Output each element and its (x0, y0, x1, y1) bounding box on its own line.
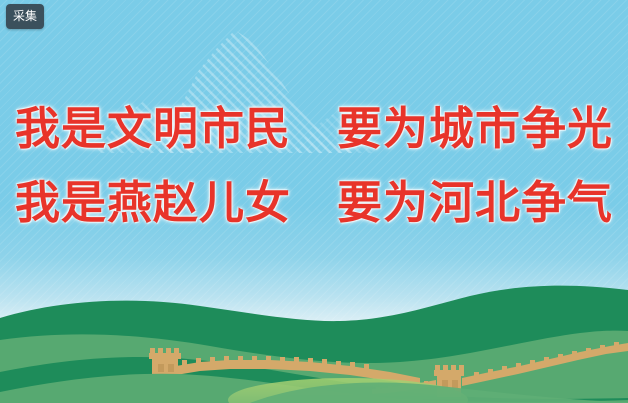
slogan-line-2: 我是燕赵儿女 要为河北争气 (0, 166, 628, 240)
slogan-block: 我是文明市民 要为城市争光 我是燕赵儿女 要为河北争气 (0, 92, 628, 240)
banner-screenshot: 我是文明市民 要为城市争光 我是燕赵儿女 要为河北争气 采集 (0, 0, 628, 403)
capture-button[interactable]: 采集 (6, 4, 44, 29)
slogan-line-1: 我是文明市民 要为城市争光 (0, 92, 628, 166)
